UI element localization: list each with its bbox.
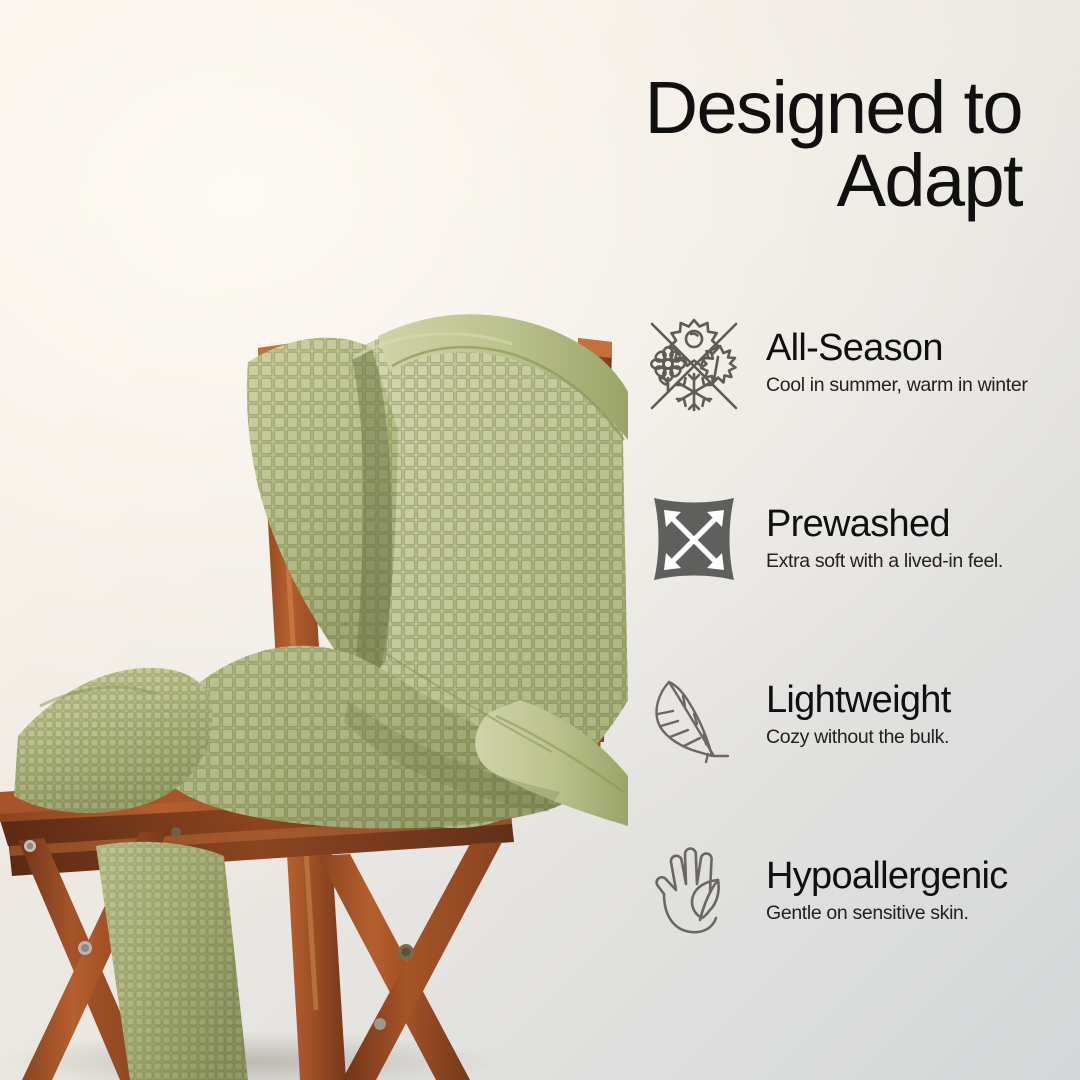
feature-text: All-Season Cool in summer, warm in winte… (750, 329, 1028, 400)
feature-item-all-season: All-Season Cool in summer, warm in winte… (638, 305, 1058, 423)
prewashed-icon (638, 484, 750, 596)
feature-text: Lightweight Cozy without the bulk. (750, 681, 951, 752)
feature-title: Prewashed (766, 505, 1003, 545)
feather-icon (638, 660, 750, 772)
hand-leaf-icon (638, 836, 750, 948)
feature-subtitle: Extra soft with a lived-in feel. (766, 549, 1003, 573)
feature-title: All-Season (766, 329, 1028, 369)
feature-item-prewashed: Prewashed Extra soft with a lived-in fee… (638, 481, 1058, 599)
infographic-canvas: Designed to Adapt (0, 0, 1080, 1080)
all-season-icon (638, 308, 750, 420)
feature-text: Hypoallergenic Gentle on sensitive skin. (750, 857, 1008, 928)
feature-title: Lightweight (766, 681, 951, 721)
feature-title: Hypoallergenic (766, 857, 1008, 897)
feature-subtitle: Cozy without the bulk. (766, 725, 951, 749)
page-title: Designed to Adapt (552, 72, 1022, 217)
feature-subtitle: Cool in summer, warm in winter (766, 373, 1028, 397)
feature-item-hypoallergenic: Hypoallergenic Gentle on sensitive skin. (638, 833, 1058, 951)
feature-item-lightweight: Lightweight Cozy without the bulk. (638, 657, 1058, 775)
product-photo (0, 0, 640, 1080)
feature-text: Prewashed Extra soft with a lived-in fee… (750, 505, 1003, 576)
feature-subtitle: Gentle on sensitive skin. (766, 901, 1008, 925)
feature-list: All-Season Cool in summer, warm in winte… (638, 305, 1058, 951)
